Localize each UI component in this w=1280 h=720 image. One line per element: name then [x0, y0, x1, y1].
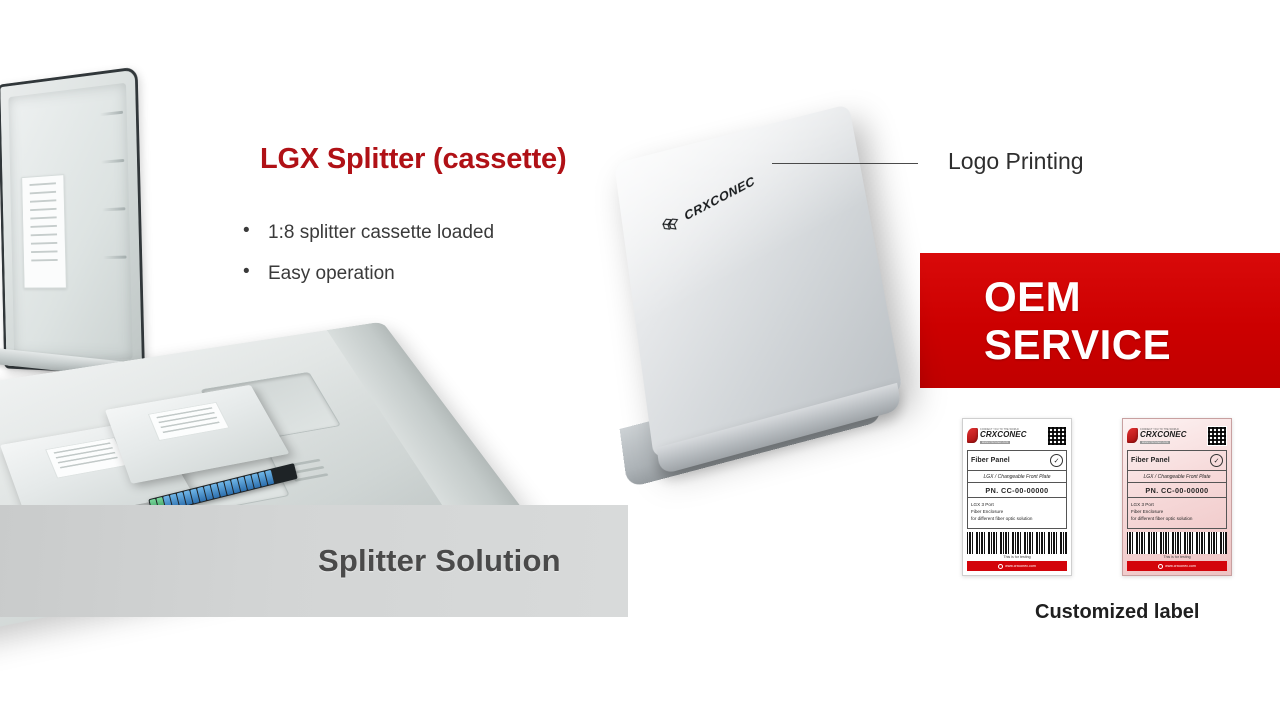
splitter-solution-bar: Splitter Solution — [0, 505, 628, 617]
qr-code-icon — [1207, 426, 1227, 446]
feature-bullet-list: 1:8 splitter cassette loaded Easy operat… — [243, 222, 494, 304]
barcode-caption: This is for testing — [967, 555, 1067, 559]
check-circle-icon: ✓ — [1050, 454, 1063, 467]
logo-printing-callout: Logo Printing — [948, 148, 1084, 175]
label-footer: www.crxconec.com — [1127, 561, 1227, 571]
label-part-number: PN. CC-00-00000 — [1128, 483, 1226, 498]
label-brand-text: CONNECT YOU TO THE WORLD CRXCONEC www.cr… — [1140, 427, 1187, 445]
globe-icon — [1158, 564, 1163, 569]
barcode-caption: This is for testing — [1127, 555, 1227, 559]
label-brandmark: CONNECT YOU TO THE WORLD CRXCONEC www.cr… — [967, 427, 1027, 445]
splitter-solution-label: Splitter Solution — [318, 543, 561, 579]
label-title: Fiber Panel — [971, 457, 1010, 464]
page-title: LGX Splitter (cassette) — [260, 143, 566, 176]
label-header: CONNECT YOU TO THE WORLD CRXCONEC www.cr… — [963, 419, 1071, 450]
lid-ribs — [100, 111, 129, 338]
label-title-row: Fiber Panel ✓ — [1128, 451, 1226, 471]
qr-code-icon — [1047, 426, 1067, 446]
label-desc-line: Fiber Enclosure — [971, 508, 1063, 515]
label-brand-url: www.crxconec.com — [980, 441, 1010, 444]
label-brand-url: www.crxconec.com — [1140, 441, 1170, 444]
label-footer-url: www.crxconec.com — [1165, 564, 1196, 568]
lid-spec-sticker — [21, 174, 66, 288]
label-subtitle: LGX / Changeable Front Plate — [968, 471, 1066, 483]
check-circle-icon: ✓ — [1210, 454, 1223, 467]
list-item: 1:8 splitter cassette loaded — [243, 222, 494, 244]
tray-side-wall — [327, 322, 529, 532]
label-desc-line: Fiber Enclosure — [1131, 508, 1223, 515]
enclosure-top-face: CRXCONEC — [614, 104, 903, 459]
label-description: LGX 3 Port Fiber Enclosure for different… — [1128, 498, 1226, 524]
label-barcode-area: This is for testing — [1127, 532, 1227, 559]
label-desc-line: LGX 3 Port — [971, 501, 1063, 508]
customized-label-caption: Customized label — [1035, 601, 1199, 624]
label-desc-line: for different fiber optic solution — [971, 515, 1063, 522]
label-description: LGX 3 Port Fiber Enclosure for different… — [968, 498, 1066, 524]
label-brandmark: CONNECT YOU TO THE WORLD CRXCONEC www.cr… — [1127, 427, 1187, 445]
label-part-number: PN. CC-00-00000 — [968, 483, 1066, 498]
label-brand-name: CRXCONEC — [1140, 430, 1187, 439]
product-label-tinted: CONNECT YOU TO THE WORLD CRXCONEC www.cr… — [1122, 418, 1232, 576]
label-barcode-area: This is for testing — [967, 532, 1067, 559]
label-footer-url: www.crxconec.com — [1005, 564, 1036, 568]
cassette-sticker — [148, 402, 229, 441]
oem-service-label: OEM SERVICE — [984, 273, 1280, 369]
label-body: Fiber Panel ✓ LGX / Changeable Front Pla… — [1127, 450, 1227, 529]
label-footer: www.crxconec.com — [967, 561, 1067, 571]
list-item: Easy operation — [243, 263, 494, 285]
flame-icon — [967, 428, 978, 443]
product-photo-closed-enclosure: CRXCONEC — [600, 95, 1000, 465]
label-desc-line: LGX 3 Port — [1131, 501, 1223, 508]
label-brand-name: CRXCONEC — [980, 430, 1027, 439]
label-desc-line: for different fiber optic solution — [1131, 515, 1223, 522]
label-header: CONNECT YOU TO THE WORLD CRXCONEC www.cr… — [1123, 419, 1231, 450]
label-body: Fiber Panel ✓ LGX / Changeable Front Pla… — [967, 450, 1067, 529]
label-subtitle: LGX / Changeable Front Plate — [1128, 471, 1226, 483]
globe-icon — [998, 564, 1003, 569]
product-label-white: CONNECT YOU TO THE WORLD CRXCONEC www.cr… — [962, 418, 1072, 576]
label-title-row: Fiber Panel ✓ — [968, 451, 1066, 471]
barcode-icon — [1127, 532, 1227, 554]
barcode-icon — [967, 532, 1067, 554]
slide-canvas: Splitter Solution LGX Splitter (cassette… — [0, 0, 1280, 720]
callout-leader-line — [772, 163, 918, 164]
label-brand-text: CONNECT YOU TO THE WORLD CRXCONEC www.cr… — [980, 427, 1027, 445]
label-title: Fiber Panel — [1131, 457, 1170, 464]
enclosure-gloss-highlight — [614, 104, 880, 336]
enclosure-lid — [0, 66, 145, 375]
flame-icon — [1127, 428, 1138, 443]
